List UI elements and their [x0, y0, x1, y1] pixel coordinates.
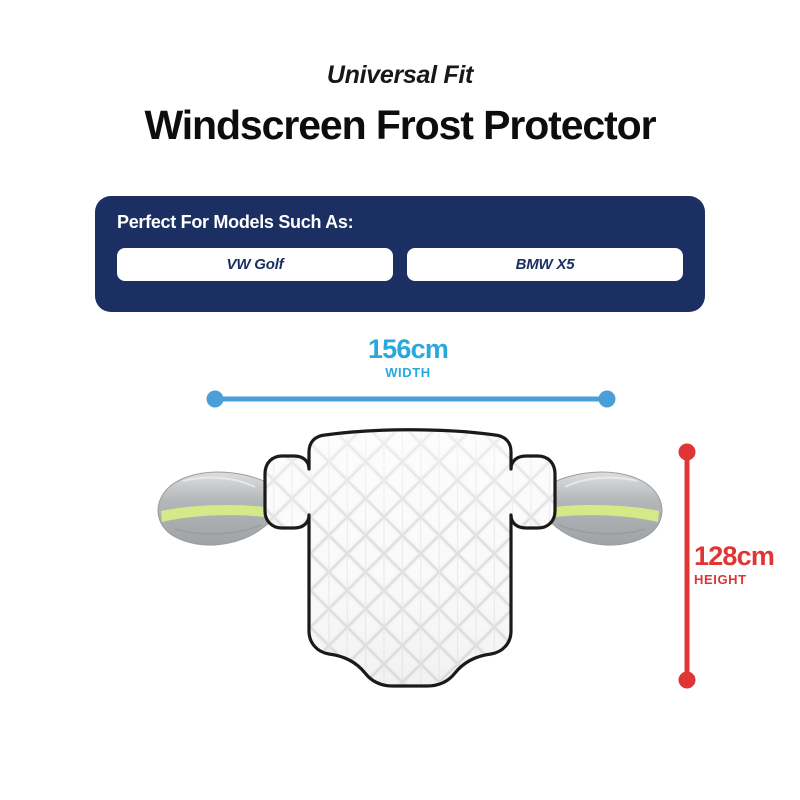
- left-mirror-flap: [158, 472, 279, 545]
- models-panel: Perfect For Models Such As: VW Golf BMW …: [95, 196, 705, 312]
- eyebrow-text: Universal Fit: [0, 62, 800, 90]
- model-pill-row: VW Golf BMW X5: [117, 248, 683, 281]
- cover-body: [145, 425, 675, 690]
- width-dimension-line: [205, 388, 617, 410]
- models-heading: Perfect For Models Such As:: [117, 212, 683, 234]
- page-header: Universal Fit Windscreen Frost Protector: [0, 62, 800, 148]
- height-dimension-line: [676, 442, 698, 690]
- model-pill-label: VW Golf: [227, 256, 284, 273]
- height-value: 128cm: [694, 543, 800, 570]
- page-title: Windscreen Frost Protector: [0, 103, 800, 148]
- model-pill-label: BMW X5: [516, 256, 575, 273]
- width-value: 156cm: [288, 336, 528, 363]
- product-illustration: [145, 425, 675, 690]
- model-pill-bmw-x5: BMW X5: [407, 248, 683, 281]
- model-pill-vw-golf: VW Golf: [117, 248, 393, 281]
- width-caption: WIDTH: [288, 366, 528, 379]
- right-mirror-flap: [541, 472, 662, 545]
- height-dimension-label: 128cm HEIGHT: [694, 543, 800, 586]
- height-caption: HEIGHT: [694, 573, 800, 586]
- width-dimension-label: 156cm WIDTH: [288, 336, 528, 379]
